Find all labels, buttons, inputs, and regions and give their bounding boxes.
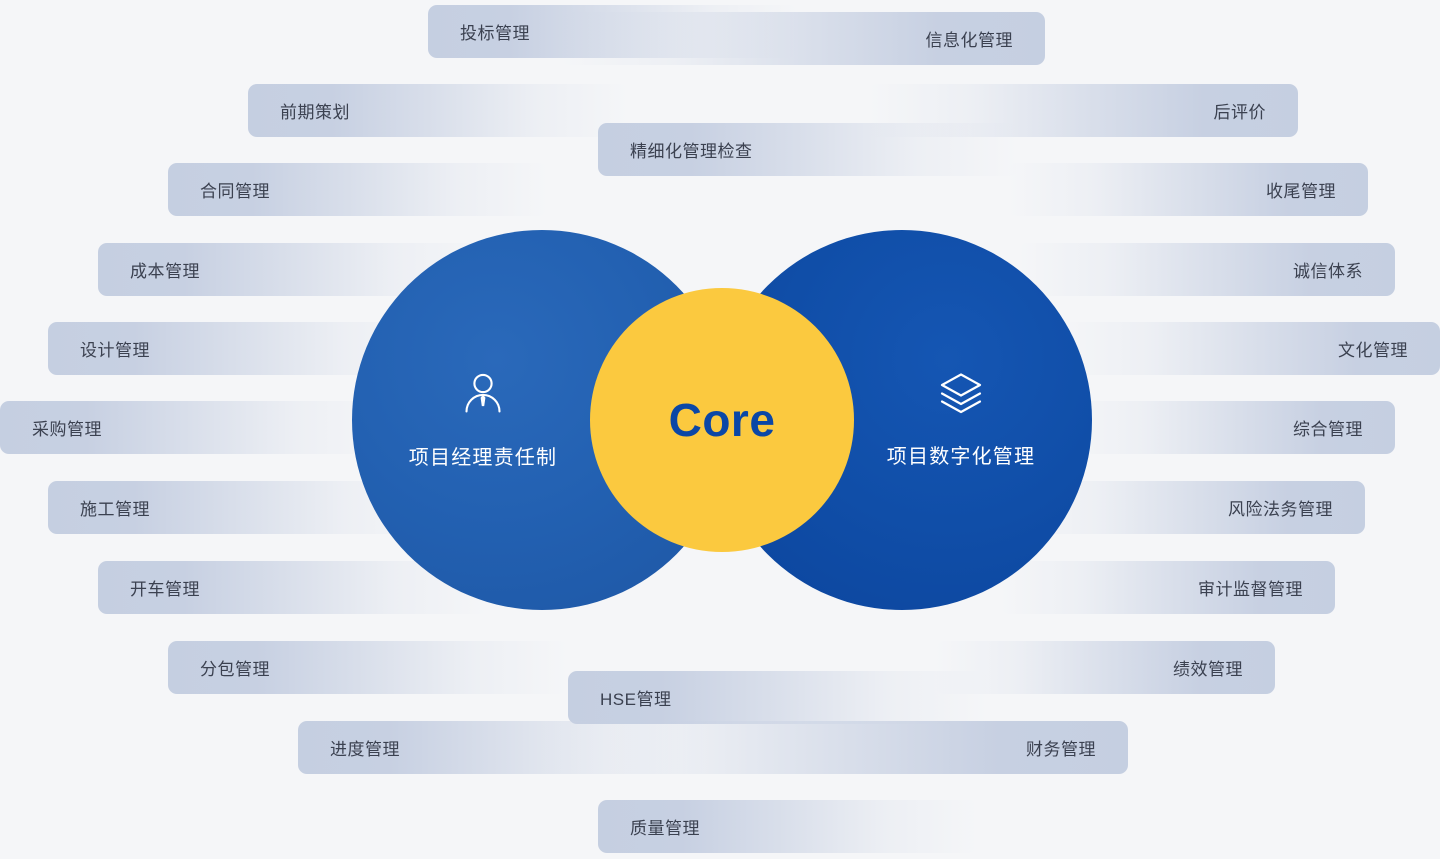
pillar-right-label: 项目数字化管理 bbox=[887, 440, 1035, 469]
layers-stack-icon bbox=[938, 371, 984, 420]
category-pill[interactable]: 财务管理 bbox=[540, 721, 1128, 774]
infographic-canvas: 投标管理前期策划合同管理精细化管理检查成本管理设计管理采购管理施工管理开车管理分… bbox=[0, 0, 1440, 859]
category-pill-label: 前期策划 bbox=[280, 98, 350, 123]
category-pill-label: 绩效管理 bbox=[1173, 655, 1243, 680]
category-pill[interactable]: 绩效管理 bbox=[935, 641, 1275, 694]
category-pill-label: 收尾管理 bbox=[1266, 177, 1336, 202]
category-pill[interactable]: HSE管理 bbox=[568, 671, 988, 724]
category-pill-label: 成本管理 bbox=[130, 257, 200, 282]
category-pill[interactable]: 审计监督管理 bbox=[1000, 561, 1335, 614]
category-pill-label: 财务管理 bbox=[1026, 735, 1096, 760]
category-pill-label: 审计监督管理 bbox=[1198, 575, 1303, 600]
category-pill[interactable]: 文化管理 bbox=[1060, 322, 1440, 375]
category-pill[interactable]: 质量管理 bbox=[598, 800, 978, 853]
category-pill[interactable]: 采购管理 bbox=[0, 401, 390, 454]
category-pill-label: 文化管理 bbox=[1338, 336, 1408, 361]
category-pill-label: 后评价 bbox=[1214, 98, 1267, 123]
core-circle[interactable]: Core bbox=[590, 288, 854, 552]
person-tie-icon bbox=[460, 370, 506, 421]
pillar-left-label: 项目经理责任制 bbox=[409, 441, 557, 470]
category-pill-label: 综合管理 bbox=[1293, 415, 1363, 440]
category-pill-label: 精细化管理检查 bbox=[630, 137, 753, 162]
category-pill[interactable]: 诚信体系 bbox=[1018, 243, 1395, 296]
category-pill[interactable]: 综合管理 bbox=[1065, 401, 1395, 454]
category-pill-label: 设计管理 bbox=[80, 336, 150, 361]
category-pill-label: 开车管理 bbox=[130, 575, 200, 600]
core-label: Core bbox=[669, 393, 776, 447]
category-pill[interactable]: 信息化管理 bbox=[560, 12, 1045, 65]
category-pill[interactable]: 分包管理 bbox=[168, 641, 568, 694]
category-pill-label: 诚信体系 bbox=[1293, 257, 1363, 282]
category-pill-label: 质量管理 bbox=[630, 814, 700, 839]
category-pill-label: 合同管理 bbox=[200, 177, 270, 202]
category-pill[interactable]: 收尾管理 bbox=[1008, 163, 1368, 216]
category-pill-label: 风险法务管理 bbox=[1228, 495, 1333, 520]
category-pill-label: HSE管理 bbox=[600, 685, 671, 710]
category-pill-label: 信息化管理 bbox=[926, 26, 1014, 51]
category-pill-label: 分包管理 bbox=[200, 655, 270, 680]
pillar-right-content: 项目数字化管理 bbox=[887, 371, 1035, 469]
pillar-left-content: 项目经理责任制 bbox=[409, 370, 557, 470]
category-pill-label: 采购管理 bbox=[32, 415, 102, 440]
category-pill-label: 投标管理 bbox=[460, 19, 530, 44]
category-pill[interactable]: 前期策划 bbox=[248, 84, 628, 137]
category-pill[interactable]: 后评价 bbox=[868, 84, 1298, 137]
category-pill[interactable]: 合同管理 bbox=[168, 163, 548, 216]
category-pill-label: 进度管理 bbox=[330, 735, 400, 760]
category-pill-label: 施工管理 bbox=[80, 495, 150, 520]
